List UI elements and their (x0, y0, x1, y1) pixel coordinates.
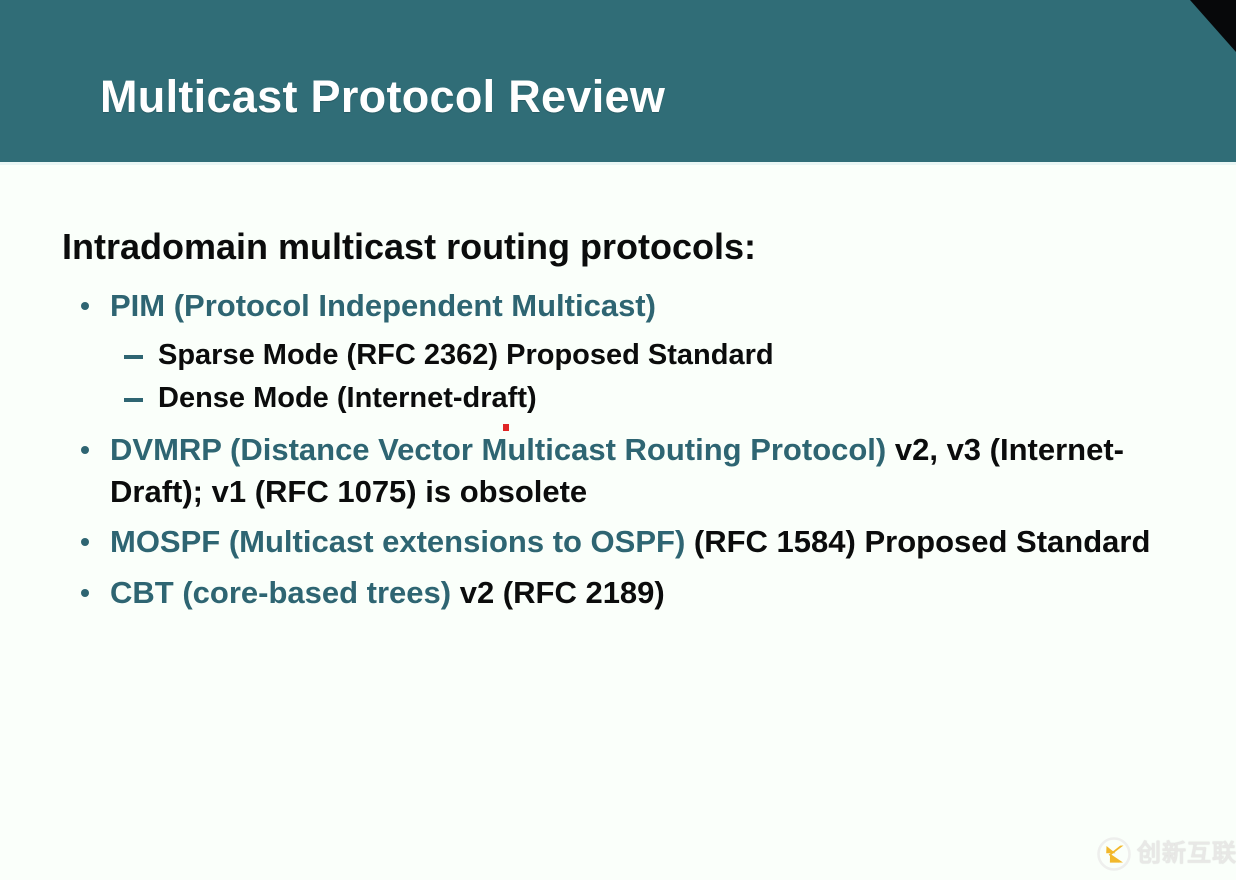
header-corner-triangle-icon (1190, 0, 1236, 52)
bullet-text-dark: Sparse Mode (RFC 2362) Proposed Standard (158, 339, 774, 371)
bullet-list: PIM (Protocol Independent Multicast) Spa… (62, 285, 1172, 619)
watermark: 创新互联 (1096, 832, 1230, 876)
bullet-dash-icon (124, 398, 143, 402)
bullet-item-dvmrp: DVMRP (Distance Vector Multicast Routing… (62, 429, 1172, 512)
bullet-dot-icon (81, 589, 89, 597)
bullet-text-dark: (RFC 1584) Proposed Standard (685, 524, 1150, 559)
bullet-text-teal: DVMRP (Distance Vector Multicast Routing… (110, 432, 886, 467)
bullet-dot-icon (81, 446, 89, 454)
watermark-text: 创新互联 (1137, 842, 1236, 866)
spacer (62, 422, 1172, 429)
slide-header-band: Multicast Protocol Review (0, 0, 1236, 162)
red-speck-artifact (503, 424, 509, 431)
bullet-text-dark: Dense Mode (Internet-draft) (158, 382, 537, 414)
slide-title: Multicast Protocol Review (100, 74, 665, 119)
bullet-text-dark: v2 (RFC 2189) (451, 575, 665, 610)
bullet-item-dense-mode: Dense Mode (Internet-draft) (62, 379, 1172, 417)
bullet-dash-icon (124, 355, 143, 359)
slide-body: Intradomain multicast routing protocols:… (0, 165, 1236, 880)
bullet-dot-icon (81, 302, 89, 310)
bullet-item-cbt: CBT (core-based trees) v2 (RFC 2189) (62, 572, 1172, 614)
bullet-item-pim: PIM (Protocol Independent Multicast) (62, 285, 1172, 327)
bullet-item-mospf: MOSPF (Multicast extensions to OSPF) (RF… (62, 521, 1172, 563)
bullet-item-sparse-mode: Sparse Mode (RFC 2362) Proposed Standard (62, 336, 1172, 374)
bullet-text-teal: PIM (Protocol Independent Multicast) (110, 288, 656, 323)
circle-swoosh-logo-icon (1096, 836, 1132, 872)
bullet-dot-icon (81, 538, 89, 546)
body-heading: Intradomain multicast routing protocols: (62, 227, 756, 267)
bullet-text-teal: CBT (core-based trees) (110, 575, 451, 610)
bullet-text-teal: MOSPF (Multicast extensions to OSPF) (110, 524, 685, 559)
